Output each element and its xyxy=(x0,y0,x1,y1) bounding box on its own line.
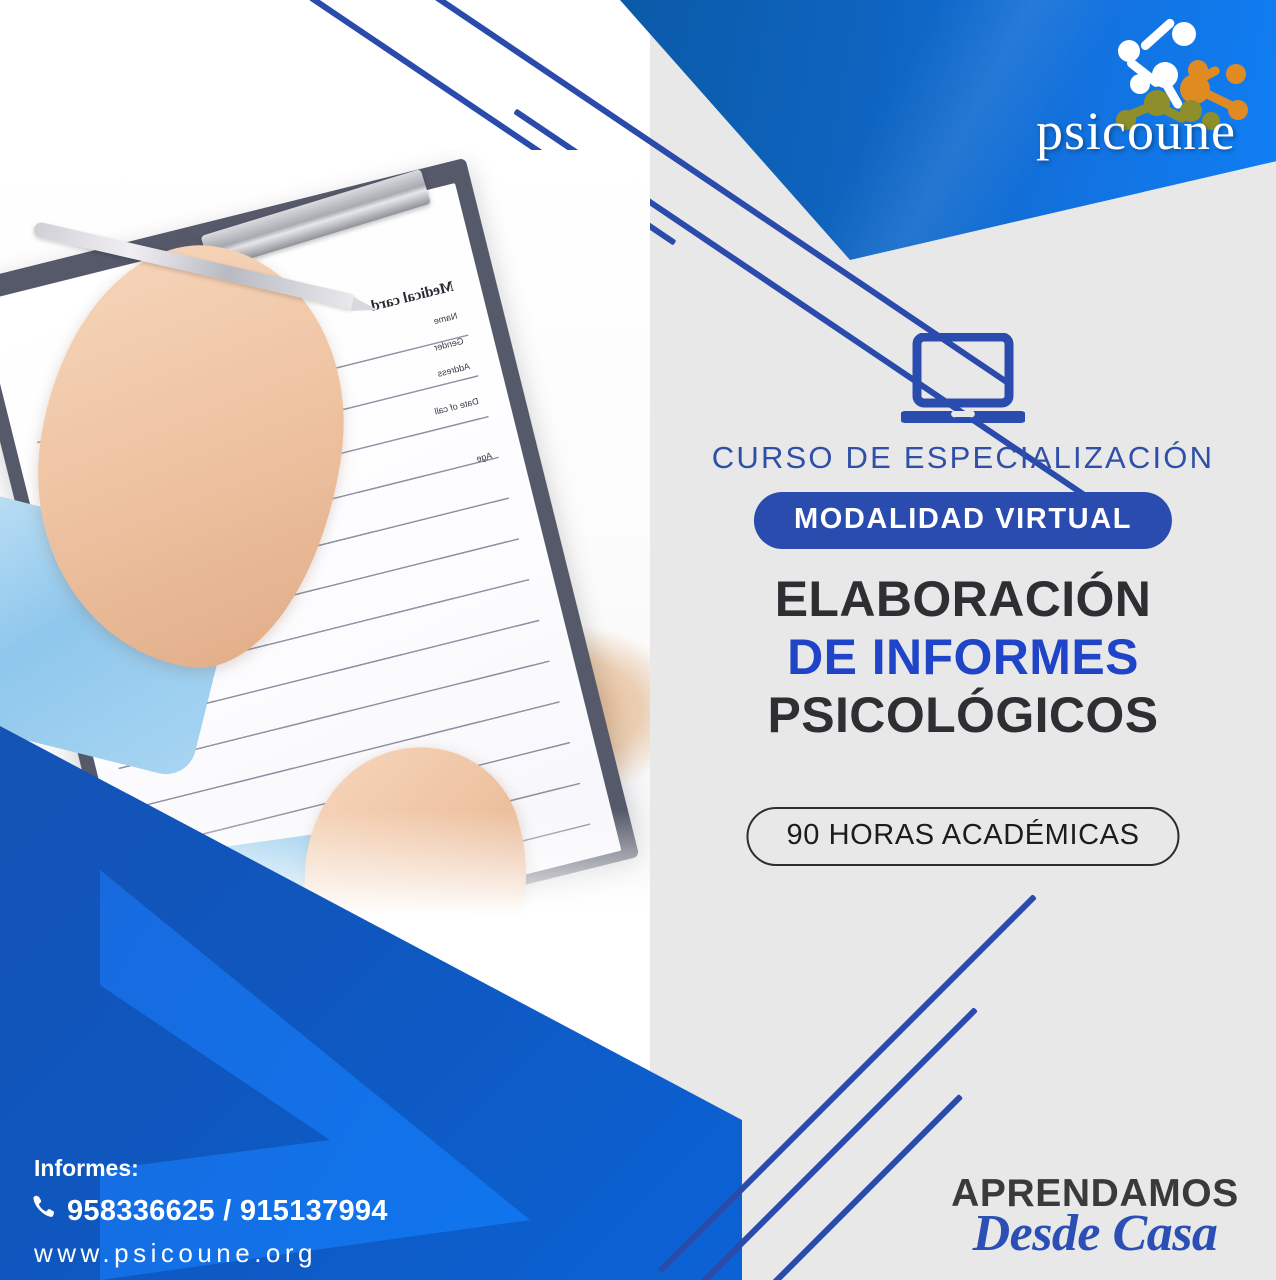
hours-badge: 90 HORAS ACADÉMICAS xyxy=(746,807,1179,866)
form-title: Medical card xyxy=(370,279,456,316)
phone-contact[interactable]: 958336625 / 915137994 xyxy=(30,1194,388,1228)
informes-label: Informes: xyxy=(34,1155,139,1182)
poster-canvas: psicoune Medical card Name Gender Addres… xyxy=(0,0,1276,1280)
slogan-script-line: Desde Casa xyxy=(930,1204,1260,1263)
phone-numbers: 958336625 / 915137994 xyxy=(67,1195,388,1228)
slogan: APRENDAMOS Desde Casa xyxy=(930,1172,1260,1277)
laptop-icon xyxy=(901,333,1025,430)
content-column: CURSO DE ESPECIALIZACIÓN MODALIDAD VIRTU… xyxy=(650,0,1276,1280)
headline-line-3: PSICOLÓGICOS xyxy=(650,686,1276,744)
website-url[interactable]: www.psicoune.org xyxy=(34,1238,317,1269)
modality-badge: MODALIDAD VIRTUAL xyxy=(754,492,1172,549)
page-title: ELABORACIÓN DE INFORMES PSICOLÓGICOS xyxy=(650,570,1276,744)
form-field: Name xyxy=(433,311,459,327)
course-kicker: CURSO DE ESPECIALIZACIÓN xyxy=(650,440,1276,476)
headline-line-1: ELABORACIÓN xyxy=(650,570,1276,628)
headline-line-2: DE INFORMES xyxy=(650,628,1276,686)
phone-icon xyxy=(30,1194,56,1228)
